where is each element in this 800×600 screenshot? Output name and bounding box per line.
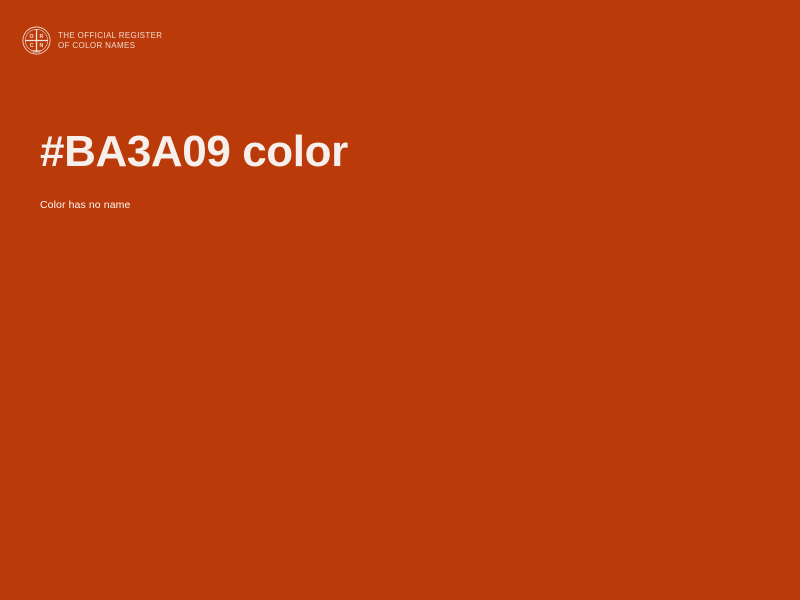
svg-text:C: C — [30, 43, 34, 49]
wordmark-line-2: OF COLOR NAMES — [58, 41, 162, 52]
color-info-block: #BA3A09 color Color has no name — [40, 126, 740, 212]
color-page: O R C N THE OFFICIAL REGISTER OF COLOR N… — [0, 0, 800, 600]
color-name-status: Color has no name — [40, 178, 740, 212]
page-title: #BA3A09 color — [40, 126, 740, 178]
wordmark-line-1: THE OFFICIAL REGISTER — [58, 31, 162, 42]
wordmark: THE OFFICIAL REGISTER OF COLOR NAMES — [58, 30, 162, 52]
brand-lockup[interactable]: O R C N THE OFFICIAL REGISTER OF COLOR N… — [22, 26, 162, 55]
svg-text:R: R — [40, 34, 44, 40]
orcn-seal-icon: O R C N — [22, 26, 51, 55]
svg-text:N: N — [40, 43, 44, 49]
svg-text:O: O — [30, 34, 34, 40]
